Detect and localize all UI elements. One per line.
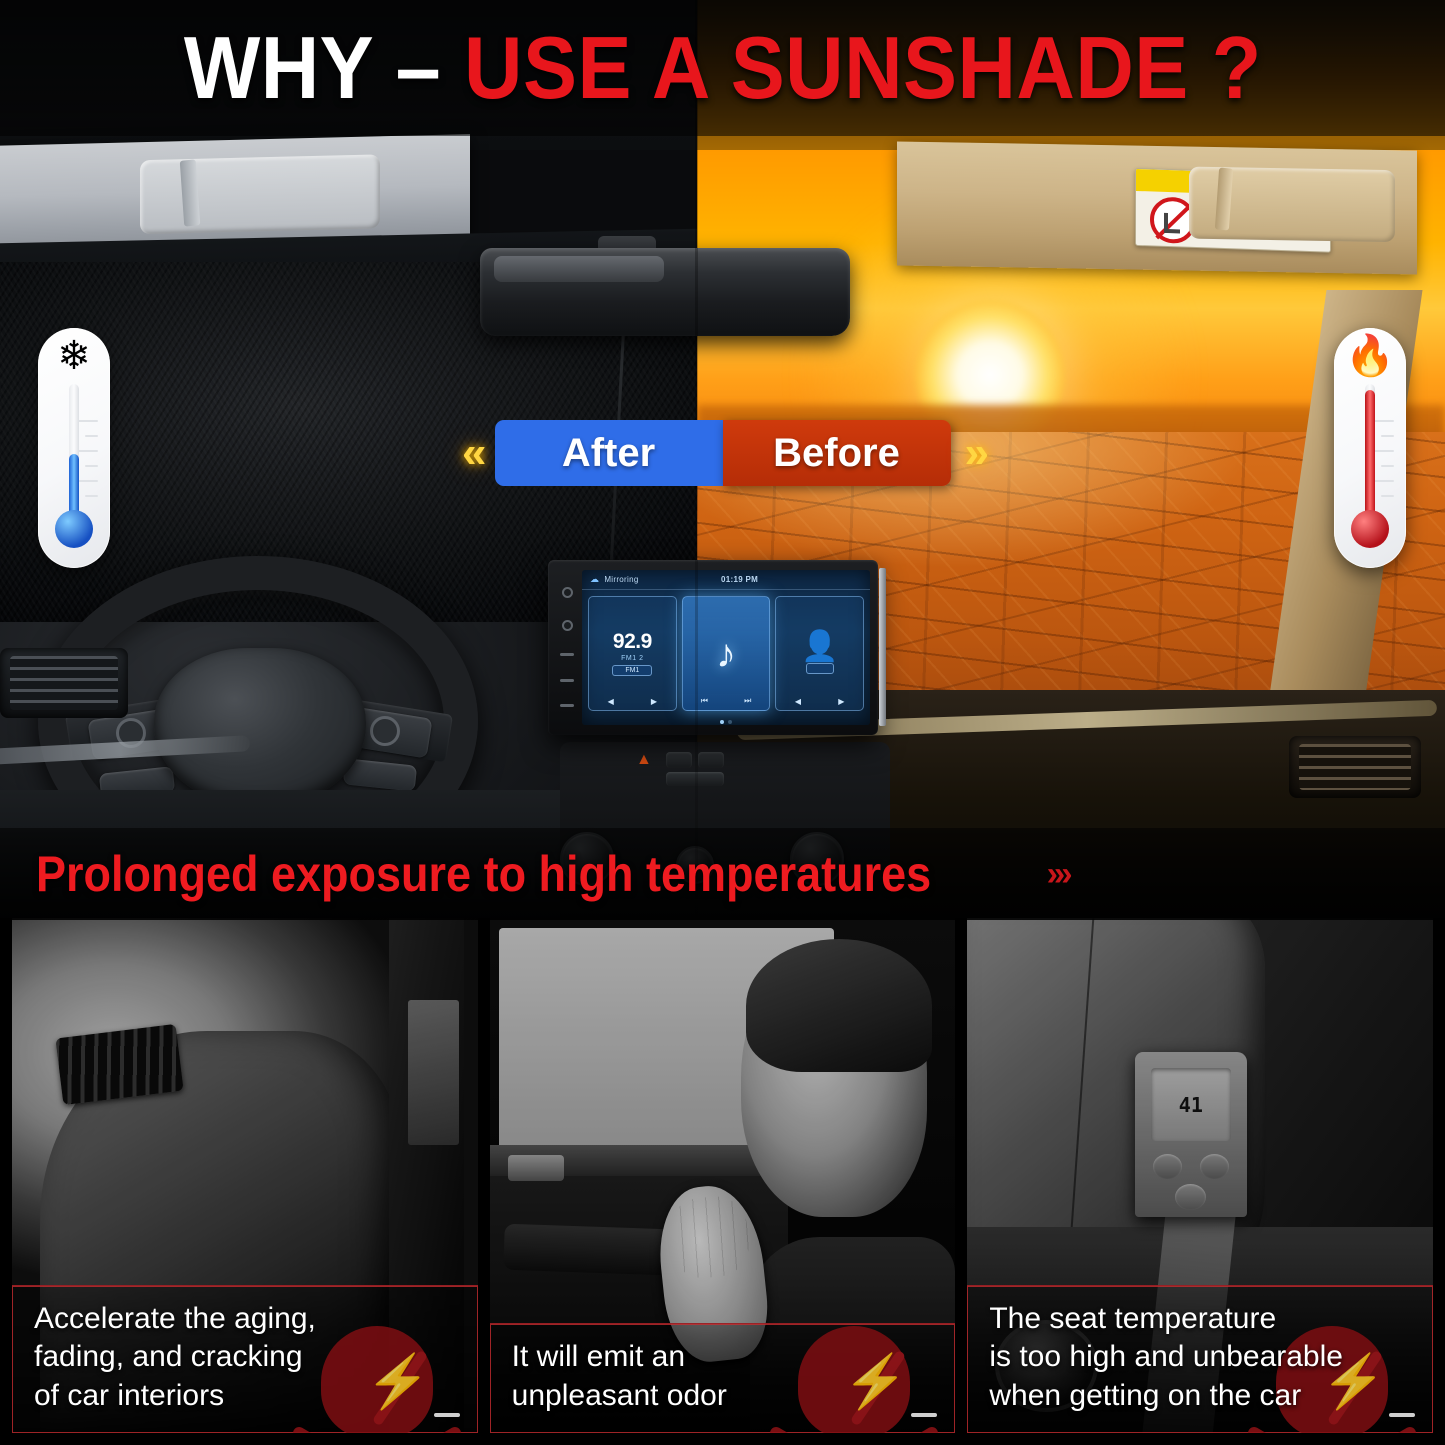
console-button-2 bbox=[698, 752, 724, 768]
panel-caption-3: ⚡ The seat temperature is too high and u… bbox=[967, 1285, 1433, 1433]
ir-gun-button-1 bbox=[1153, 1154, 1182, 1179]
consequence-panels: ⚡ Accelerate the aging, fading, and crac… bbox=[0, 918, 1445, 1445]
thermometer-fill-hot bbox=[1365, 390, 1375, 524]
bluetooth-icon: ☁ bbox=[590, 574, 599, 585]
chevron-left-icon: « bbox=[462, 431, 480, 475]
child-seat-glyph bbox=[1164, 213, 1180, 234]
after-badge[interactable]: After bbox=[495, 420, 723, 486]
media-forward-button[interactable]: ⏭ bbox=[744, 696, 751, 706]
seat-profile-tile[interactable]: 👤 ◀ ▶ bbox=[775, 596, 864, 711]
thermometer-ticks-cold bbox=[76, 420, 98, 524]
radio-preset-chip[interactable]: FM1 bbox=[612, 665, 652, 676]
chevrons-right-icon: ››› bbox=[1047, 855, 1069, 894]
caption-text-1: Accelerate the aging, fading, and cracki… bbox=[34, 1300, 462, 1415]
radio-frequency: 92.9 bbox=[613, 631, 652, 652]
music-note-icon: ♪ bbox=[716, 638, 736, 670]
head-unit-button-power bbox=[562, 587, 573, 598]
before-badge[interactable]: Before bbox=[723, 420, 951, 486]
rear-view-mirror bbox=[480, 248, 850, 336]
radio-band: FM1 2 bbox=[621, 655, 643, 662]
media-rewind-button[interactable]: ⏮ bbox=[701, 696, 708, 706]
wheel-dial-right bbox=[370, 716, 400, 746]
head-unit-status-bar: ☁ Mirroring 01:19 PM bbox=[582, 570, 870, 590]
caption-dash-3 bbox=[1389, 1413, 1415, 1417]
head-unit-button-menu bbox=[562, 620, 573, 631]
seat-setting-chip[interactable] bbox=[806, 663, 834, 674]
page-title-red: USE A SUNSHADE ? bbox=[464, 18, 1262, 117]
before-after-toggle: « After Before » bbox=[0, 412, 1445, 494]
mid-banner: Prolonged exposure to high temperatures … bbox=[0, 828, 1445, 920]
panel-unpleasant-odor: ⚡ It will emit an unpleasant odor bbox=[490, 918, 956, 1433]
sun-visor-right: ⚠ WARNING bbox=[897, 141, 1417, 274]
seat-controls: ◀ ▶ bbox=[776, 697, 863, 706]
head-unit-clock: 01:19 PM bbox=[699, 575, 781, 584]
ir-gun-button-3 bbox=[1175, 1184, 1206, 1210]
panel-seat-temperature: 41 ⚡ bbox=[967, 918, 1433, 1433]
panel-caption-2: ⚡ It will emit an unpleasant odor bbox=[490, 1323, 956, 1433]
mid-banner-text: Prolonged exposure to high temperatures bbox=[36, 845, 931, 903]
dash-vent-left bbox=[0, 648, 128, 718]
snowflake-icon: ❄ bbox=[38, 336, 110, 376]
hazard-warning-icon: ▲ bbox=[636, 752, 658, 772]
thermometer-bulb-cold bbox=[55, 510, 93, 548]
head-unit-button-volume bbox=[560, 653, 574, 656]
radio-controls: ◀ ▶ bbox=[589, 697, 676, 706]
door-handle bbox=[508, 1155, 564, 1181]
head-unit-tiles: 92.9 FM1 2 FM1 ◀ ▶ ♪ ⏮ ⏭ bbox=[582, 590, 870, 717]
page-dot-active bbox=[720, 720, 724, 724]
page-header: WHY – USE A SUNSHADE ? bbox=[0, 0, 1445, 136]
warning-triangle-icon: ⚠ bbox=[1201, 176, 1212, 188]
caption-text-2: It will emit an unpleasant odor bbox=[512, 1338, 940, 1415]
page-title: WHY – USE A SUNSHADE ? bbox=[184, 24, 1262, 112]
ir-gun-button-2 bbox=[1200, 1154, 1229, 1179]
ir-thermometer-display: 41 bbox=[1151, 1068, 1231, 1141]
screen-page-indicator bbox=[582, 720, 870, 724]
thermometer-bulb-hot bbox=[1351, 510, 1389, 548]
page-title-white: WHY bbox=[184, 18, 396, 117]
person-icon: 👤 bbox=[801, 633, 838, 660]
caption-dash-1 bbox=[434, 1413, 460, 1417]
flame-icon: 🔥 bbox=[1334, 336, 1406, 376]
sunshade-infographic: ⚠ WARNING bbox=[0, 0, 1445, 1445]
console-button-1 bbox=[666, 752, 692, 768]
caption-dash-2 bbox=[911, 1413, 937, 1417]
head-unit-bezel bbox=[879, 568, 886, 726]
side-window bbox=[408, 1000, 459, 1144]
chevron-right-icon: » bbox=[965, 431, 983, 475]
steering-wheel-airbag-hub bbox=[154, 648, 366, 808]
thermometer-ticks-hot bbox=[1372, 420, 1394, 524]
panel-interior-aging: ⚡ Accelerate the aging, fading, and crac… bbox=[12, 918, 478, 1433]
dash-vent-right bbox=[1289, 736, 1421, 798]
page-dot-inactive bbox=[728, 720, 732, 724]
radio-prev-button[interactable]: ◀ bbox=[608, 697, 614, 706]
infrared-thermometer-gun: 41 bbox=[1135, 1052, 1247, 1217]
head-unit-side-buttons bbox=[557, 576, 577, 718]
hot-thermometer: 🔥 bbox=[1334, 328, 1406, 568]
radio-next-button[interactable]: ▶ bbox=[651, 697, 657, 706]
warning-label-body bbox=[1136, 191, 1330, 253]
infotainment-head-unit: ☁ Mirroring 01:19 PM 92.9 FM1 2 FM1 ◀ ▶ bbox=[548, 560, 878, 735]
head-unit-source: ☁ Mirroring bbox=[590, 574, 699, 585]
head-unit-screen: ☁ Mirroring 01:19 PM 92.9 FM1 2 FM1 ◀ ▶ bbox=[582, 570, 870, 725]
seat-prev-button[interactable]: ◀ bbox=[795, 697, 801, 706]
radio-tile[interactable]: 92.9 FM1 2 FM1 ◀ ▶ bbox=[588, 596, 677, 711]
before-after-scene: ⚠ WARNING bbox=[0, 0, 1445, 918]
caption-text-3: The seat temperature is too high and unb… bbox=[989, 1300, 1417, 1415]
panel-caption-1: ⚡ Accelerate the aging, fading, and crac… bbox=[12, 1285, 478, 1433]
seat-next-button[interactable]: ▶ bbox=[838, 697, 844, 706]
no-child-seat-icon bbox=[1136, 191, 1210, 250]
airbag-warning-label: ⚠ WARNING bbox=[1135, 168, 1331, 253]
man-hair bbox=[746, 939, 932, 1073]
cold-thermometer: ❄ bbox=[38, 328, 110, 568]
head-unit-button-home bbox=[560, 704, 574, 707]
prohibition-circle-icon bbox=[1150, 196, 1196, 244]
page-title-dash: – bbox=[395, 18, 463, 117]
head-unit-source-label: Mirroring bbox=[604, 575, 638, 584]
head-unit-button-seek bbox=[560, 679, 574, 682]
